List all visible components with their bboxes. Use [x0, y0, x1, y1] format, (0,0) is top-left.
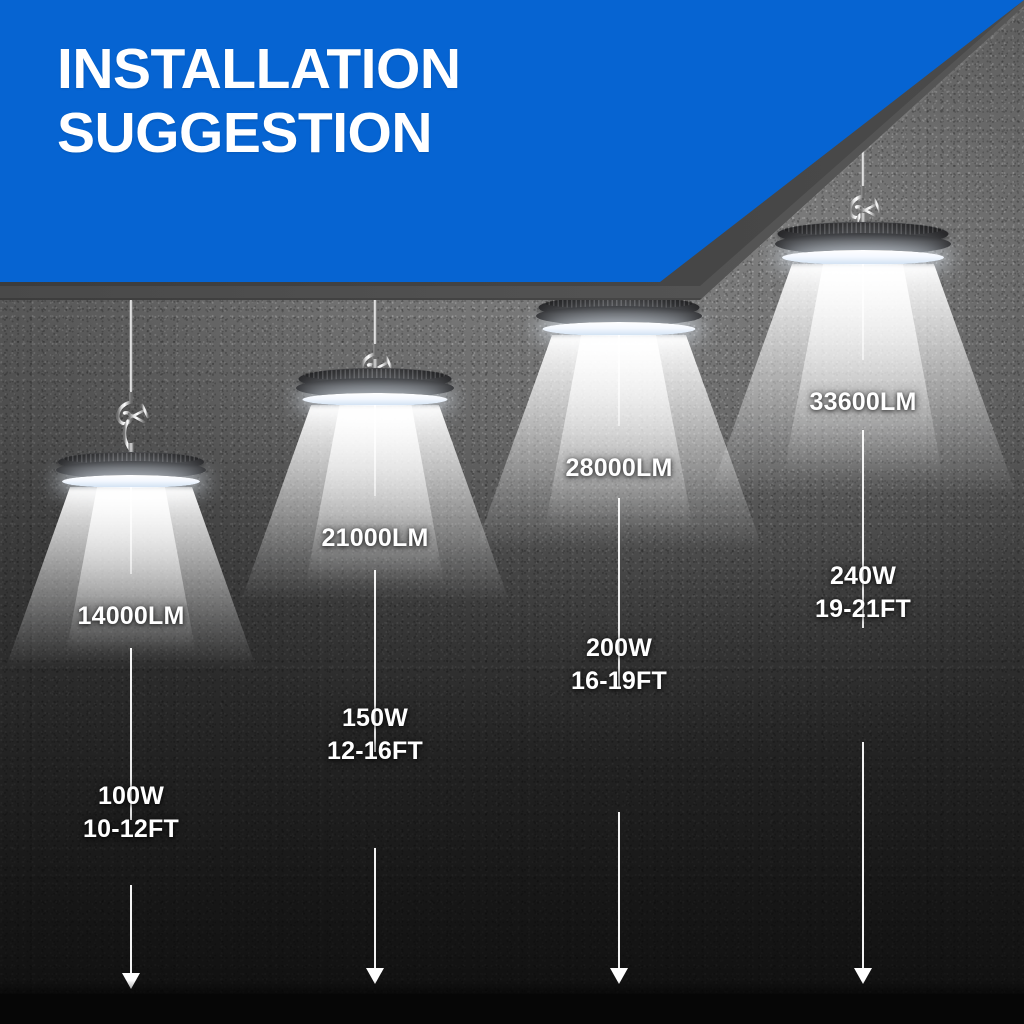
lumens-label-3: 33600LM: [809, 386, 916, 419]
infographic-canvas: 14000LM 100W 10-12FT 21000LM: [0, 0, 1024, 1024]
floor-strip: [0, 994, 1024, 1024]
beam-centre-line: [862, 264, 864, 360]
spec-label-3: 240W 19-21FT: [815, 560, 911, 626]
fixture-lens: [782, 250, 944, 265]
ufo-high-bay-light-icon: [775, 222, 951, 268]
page-title: INSTALLATION SUGGESTION: [57, 38, 461, 166]
arrow-down-icon-shaft-3: [862, 742, 864, 968]
